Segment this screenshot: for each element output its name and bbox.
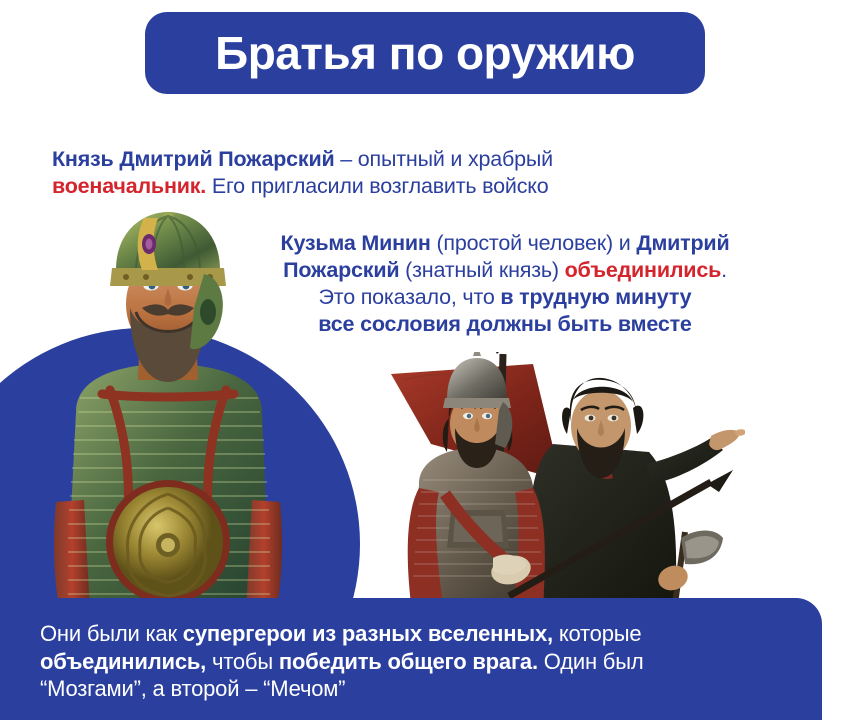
intro-line2: военачальник. Его пригласили возглавить … [52, 173, 652, 200]
bottom-l2-end: Один был [538, 649, 644, 674]
intro-line1-rest: – опытный и храбрый [335, 147, 554, 171]
union-line-3: Это показало, что в трудную минуту [190, 284, 820, 311]
union-text-block: Кузьма Минин (простой человек) и Дмитрий… [190, 230, 820, 338]
union-l2-mid: (знатный князь) [399, 258, 564, 282]
union-pozharsky-name: Пожарский [283, 258, 399, 282]
bottom-l2-bold-b: победить общего врага. [279, 649, 538, 674]
union-l4-bold: все сословия должны быть вместе [318, 312, 691, 336]
bottom-l1-start: Они были как [40, 621, 183, 646]
page-title: Братья по оружию [215, 30, 635, 76]
bottom-l2-bold-a: объединились, [40, 649, 206, 674]
bottom-text-block: Они были как супергерои из разных вселен… [40, 620, 800, 703]
bottom-l1-end: которые [553, 621, 641, 646]
bottom-l1-bold: супергерои из разных вселенных, [183, 621, 553, 646]
union-dmitry-name: Дмитрий [636, 231, 729, 255]
union-l2-period: . [721, 258, 727, 282]
bottom-line-3: “Мозгами”, а второй – “Мечом” [40, 675, 800, 703]
union-line-4: все сословия должны быть вместе [190, 311, 820, 338]
union-red-word: объединились [565, 258, 721, 282]
union-l3-start: Это показало, что [319, 285, 501, 309]
bottom-banner: Они были как супергерои из разных вселен… [0, 598, 822, 720]
union-minin-name: Кузьма Минин [281, 231, 431, 255]
union-line-1: Кузьма Минин (простой человек) и Дмитрий [190, 230, 820, 257]
bottom-l2-mid: чтобы [206, 649, 279, 674]
union-line-2: Пожарский (знатный князь) объединились. [190, 257, 820, 284]
bottom-line-2: объединились, чтобы победить общего враг… [40, 648, 800, 676]
right-figure-illustration [385, 352, 745, 604]
intro-line1: Князь Дмитрий Пожарский – опытный и храб… [52, 147, 553, 171]
intro-name-bold: Князь Дмитрий Пожарский [52, 147, 335, 171]
poster-root: Братья по оружию [0, 0, 850, 720]
bottom-line-1: Они были как супергерои из разных вселен… [40, 620, 800, 648]
union-l3-bold: в трудную минуту [500, 285, 691, 309]
intro-red-word: военачальник. [52, 174, 206, 198]
union-l1-mid: (простой человек) и [431, 231, 637, 255]
intro-text-block: Князь Дмитрий Пожарский – опытный и храб… [52, 146, 652, 200]
title-banner: Братья по оружию [145, 12, 705, 94]
intro-line2-rest: Его пригласили возглавить войско [206, 174, 548, 198]
minin-pozharsky-painting-svg [385, 352, 745, 604]
